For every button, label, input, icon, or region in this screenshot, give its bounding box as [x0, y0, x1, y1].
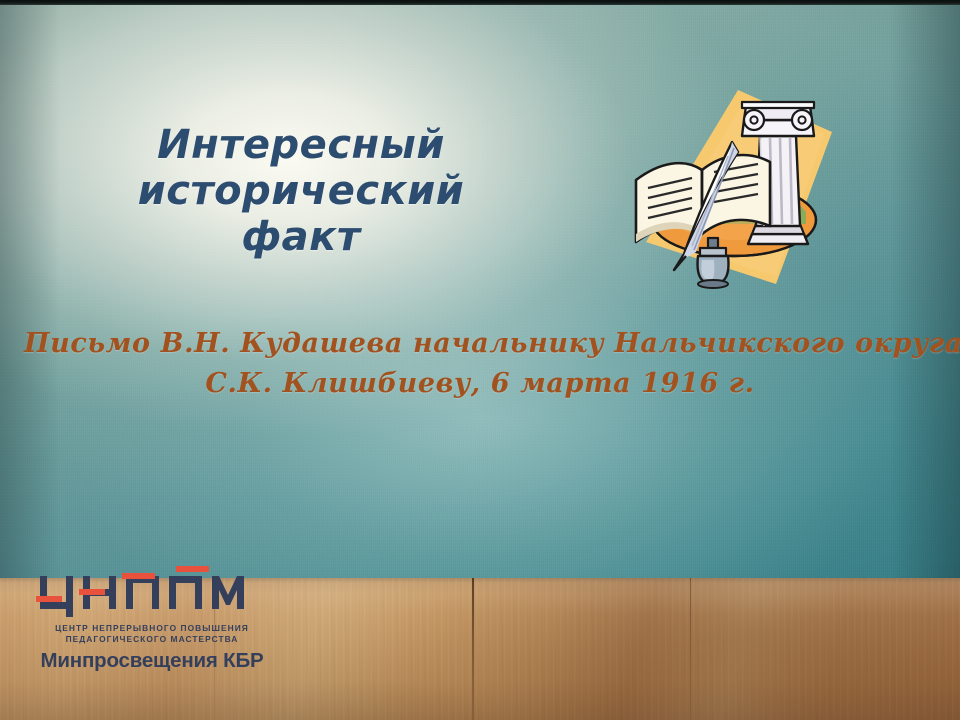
slide-subtitle: Письмо В.Н. Кудашева начальнику Нальчикс… — [24, 324, 936, 404]
presentation-slide: Интересный исторический факт Письмо В.Н.… — [0, 0, 960, 720]
logo-tagline-line-1: ЦЕНТР НЕПРЕРЫВНОГО ПОВЫШЕНИЯ — [36, 623, 268, 634]
title-line-3: факт — [96, 214, 506, 260]
cnppm-logo: ЦЕНТР НЕПРЕРЫВНОГО ПОВЫШЕНИЯ ПЕДАГОГИЧЕС… — [36, 566, 288, 673]
logo-tagline: ЦЕНТР НЕПРЕРЫВНОГО ПОВЫШЕНИЯ ПЕДАГОГИЧЕС… — [36, 623, 268, 644]
slide-title: Интересный исторический факт — [96, 122, 506, 260]
subtitle-line-1: Письмо В.Н. Кудашева начальнику Нальчикс… — [24, 324, 936, 364]
title-line-2: исторический — [96, 168, 506, 214]
plank-seam — [690, 578, 691, 720]
title-line-1: Интересный — [96, 122, 506, 168]
logo-tagline-line-2: ПЕДАГОГИЧЕСКОГО МАСТЕРСТВА — [36, 634, 268, 645]
logo-accent-bars — [36, 566, 209, 602]
logo-ministry-label: Минпросвещения КБР — [36, 649, 268, 673]
top-letterbox-band — [0, 0, 960, 5]
book-column-quill-inkwell-illustration — [626, 84, 838, 300]
logo-acronym-mark — [36, 566, 288, 622]
subtitle-line-2: С.К. Клишбиеву, 6 марта 1916 г. — [24, 364, 936, 404]
plank-seam — [472, 578, 474, 720]
